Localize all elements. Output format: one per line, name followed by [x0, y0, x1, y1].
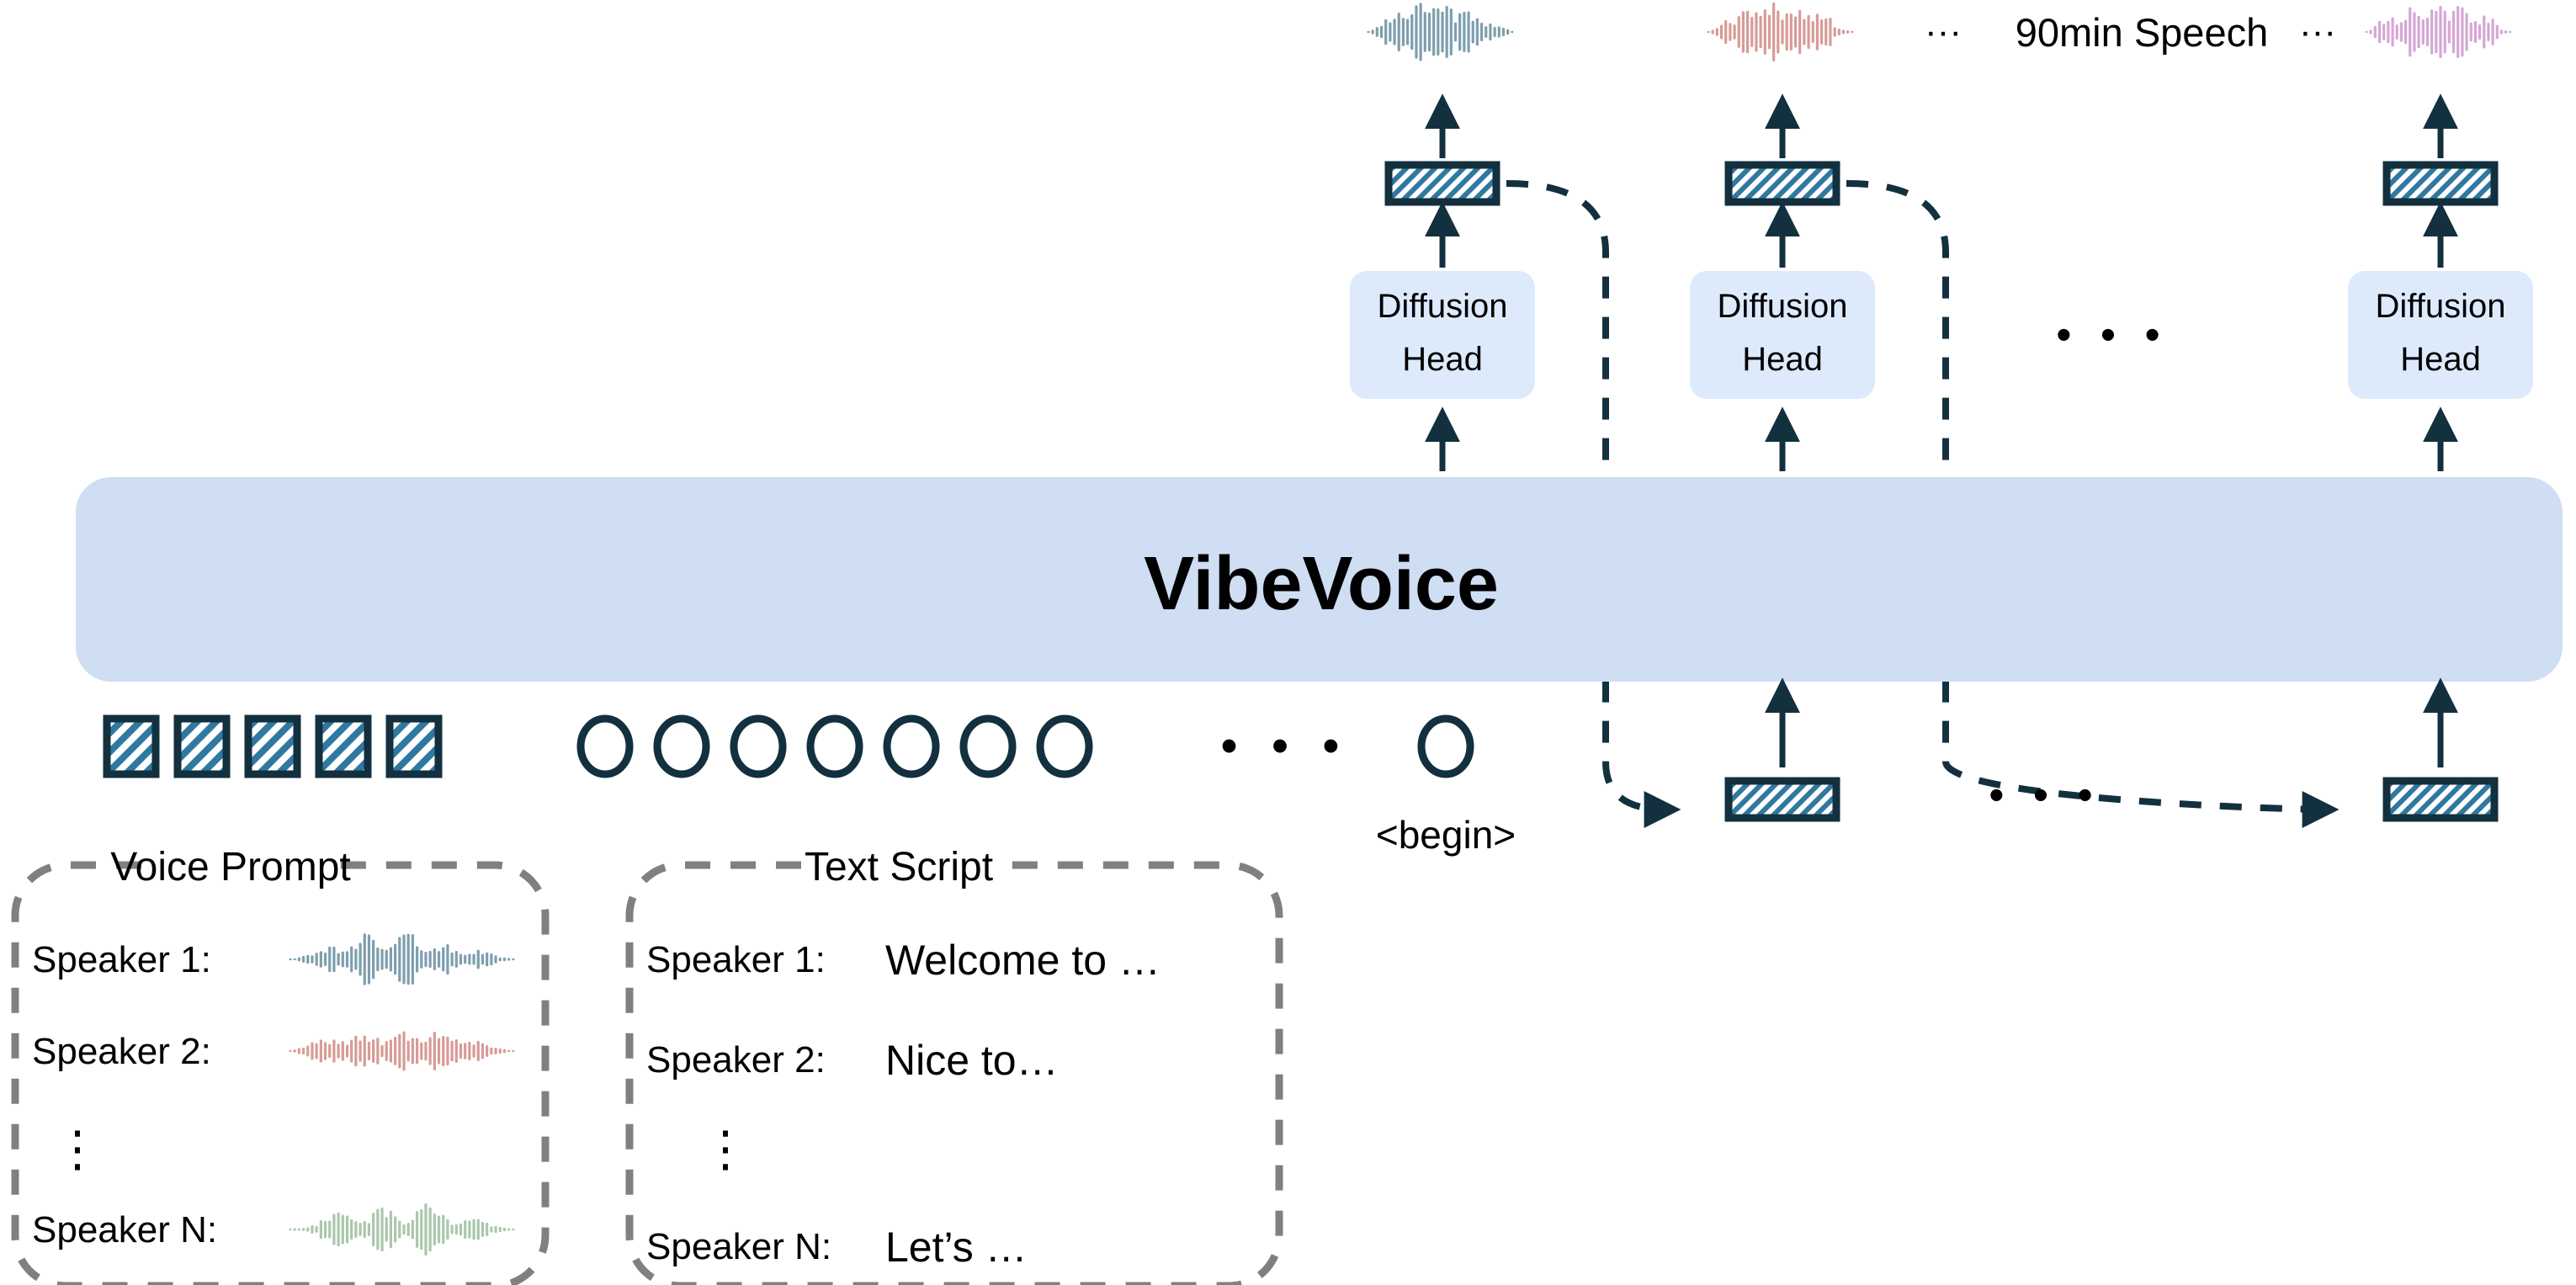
text-script-row-3-label: Speaker N:: [646, 1226, 831, 1267]
voice-token-5: [390, 719, 438, 774]
model-name-label: VibeVoice: [1144, 542, 1499, 626]
voice-prompt-title: Voice Prompt: [110, 845, 350, 889]
voice-token-4: [319, 719, 368, 774]
text-script-group: Text Script Speaker 1: Welcome to … Spea…: [629, 845, 1279, 1285]
diffusion-head-3-label-line2: Head: [2400, 341, 2481, 378]
voice-prompt-vertical-dots: ⋮: [53, 1122, 102, 1176]
diffusion-head-1-label-line1: Diffusion: [1378, 288, 1508, 325]
output-waveform-2: [1707, 3, 1853, 61]
text-token-7: [1040, 719, 1089, 774]
voice-prompt-group: Voice Prompt Speaker 1: Speaker 2: ⋮ Spe…: [15, 845, 545, 1285]
output-waveform-3: [2365, 6, 2511, 58]
voice-token-1: [107, 719, 156, 774]
voice-token-3: [248, 719, 297, 774]
vibevoice-architecture-diagram: ··· 90min Speech ··· Diffusion Head Diff…: [0, 0, 2576, 1285]
diffusion-head-3[interactable]: Diffusion Head: [2348, 271, 2533, 399]
text-script-row-2-label: Speaker 2:: [646, 1039, 826, 1081]
text-script-title: Text Script: [805, 845, 993, 889]
acoustic-token-bottom-1: [1729, 781, 1836, 818]
text-token-4: [810, 719, 859, 774]
text-token-1: [581, 719, 629, 774]
diffusion-head-2[interactable]: Diffusion Head: [1690, 271, 1875, 399]
output-speech-label: 90min Speech: [2016, 10, 2268, 55]
diffusion-head-2-label-line1: Diffusion: [1718, 288, 1848, 325]
text-script-vertical-dots: ⋮: [701, 1122, 750, 1176]
vibevoice-model-bar[interactable]: VibeVoice: [76, 477, 2563, 682]
acoustic-token-bottom-2: [2387, 781, 2494, 818]
output-waveform-1: [1367, 3, 1513, 61]
diffusion-head-1[interactable]: Diffusion Head: [1350, 271, 1535, 399]
text-token-3: [734, 719, 783, 774]
text-token-2: [657, 719, 706, 774]
acoustic-token-top-1: [1389, 165, 1496, 202]
voice-prompt-waveform-3: [289, 1203, 514, 1256]
voice-prompt-waveform-2: [289, 1031, 514, 1070]
text-script-row-1-text: Welcome to …: [885, 937, 1161, 984]
diffusion-head-1-label-line2: Head: [1402, 341, 1483, 378]
acoustic-token-top-3: [2387, 165, 2494, 202]
diagram-canvas: ··· 90min Speech ··· Diffusion Head Diff…: [0, 0, 2576, 1285]
diffusion-head-2-label-line2: Head: [1742, 341, 1823, 378]
text-token-ellipsis: • • •: [1220, 719, 1349, 773]
text-token-6: [964, 719, 1012, 774]
text-script-row-1-label: Speaker 1:: [646, 939, 826, 980]
bottom-token-ellipsis: • • •: [1989, 771, 2101, 820]
acoustic-token-top-2: [1729, 165, 1836, 202]
text-token-5: [887, 719, 936, 774]
output-ellipsis-right: ···: [2299, 11, 2336, 52]
output-ellipsis-left: ···: [1925, 11, 1962, 52]
begin-token: [1421, 719, 1470, 774]
voice-prompt-waveform-1: [289, 933, 514, 985]
voice-token-2: [178, 719, 226, 774]
voice-prompt-row-3-label: Speaker N:: [32, 1209, 217, 1250]
text-script-row-2-text: Nice to…: [885, 1037, 1059, 1084]
diffusion-head-ellipsis: • • •: [2056, 311, 2169, 359]
voice-prompt-row-1-label: Speaker 1:: [32, 939, 211, 980]
diffusion-head-3-label-line1: Diffusion: [2376, 288, 2506, 325]
begin-token-label: <begin>: [1376, 813, 1516, 857]
voice-prompt-row-2-label: Speaker 2:: [32, 1031, 211, 1072]
text-script-row-3-text: Let’s …: [885, 1224, 1028, 1271]
